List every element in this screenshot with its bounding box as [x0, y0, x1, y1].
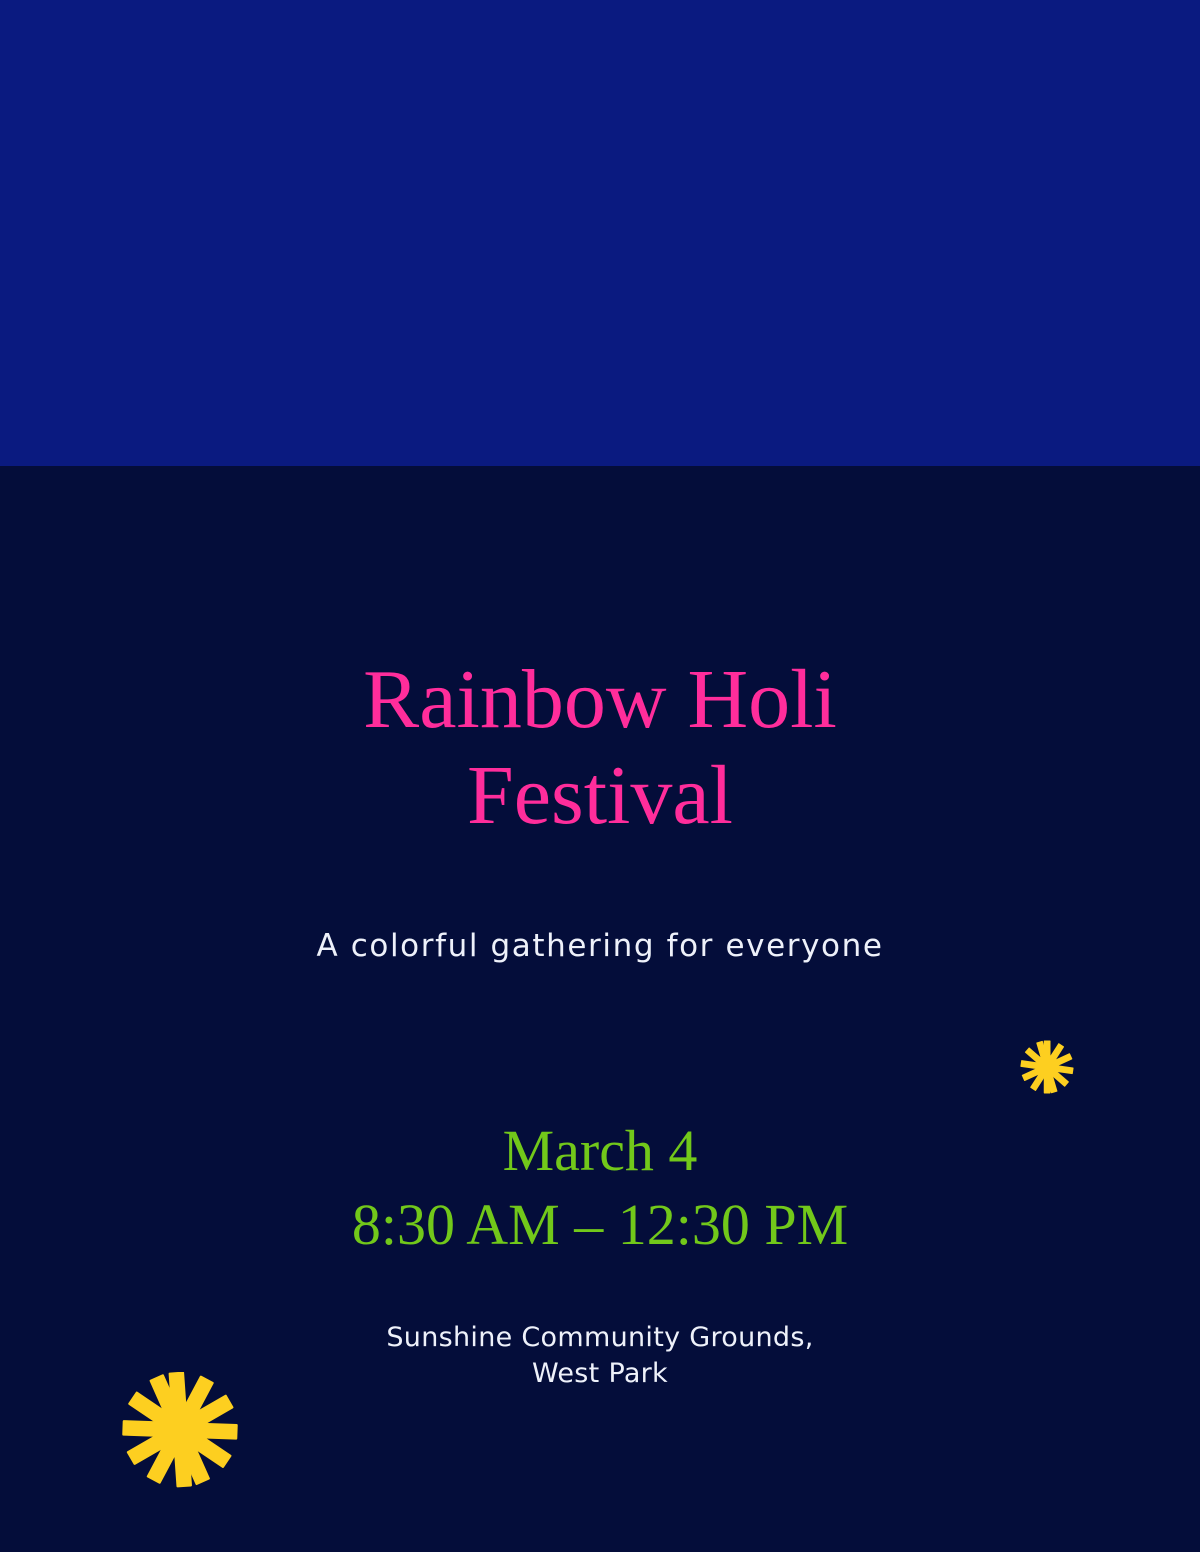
starburst-icon	[1020, 1040, 1074, 1094]
event-datetime: March 4 8:30 AM – 12:30 PM	[0, 1114, 1200, 1262]
title-line-2: Festival	[0, 748, 1200, 844]
poster-canvas: Rainbow Holi Festival A colorful gatheri…	[0, 0, 1200, 1552]
top-color-band	[0, 0, 1200, 466]
title-line-1: Rainbow Holi	[0, 652, 1200, 748]
starburst-icon	[122, 1372, 238, 1494]
page-title: Rainbow Holi Festival	[0, 652, 1200, 844]
poster-subtitle: A colorful gathering for everyone	[0, 926, 1200, 966]
venue-line-1: Sunshine Community Grounds,	[0, 1320, 1200, 1356]
event-date: March 4	[0, 1114, 1200, 1188]
event-time-range: 8:30 AM – 12:30 PM	[0, 1188, 1200, 1262]
